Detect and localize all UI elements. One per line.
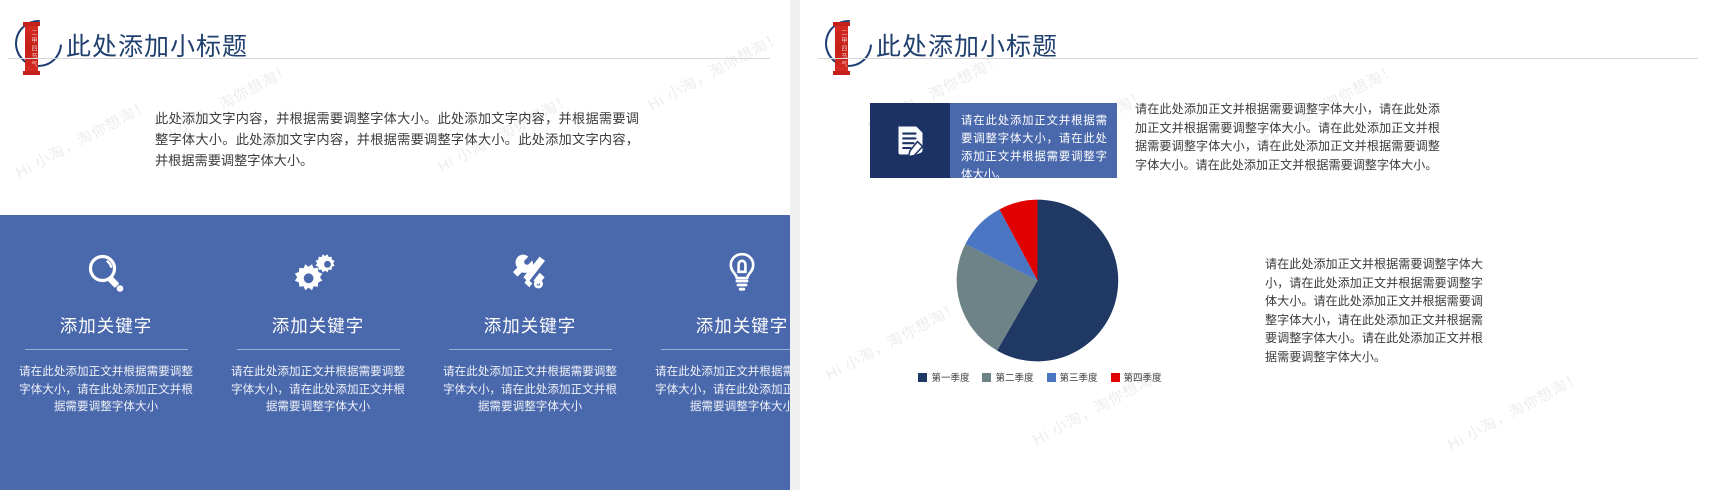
feature-body: 请在此处添加正文并根据需要调整字体大小，请在此处添加正文并根据需要调整字体大小 xyxy=(228,363,408,416)
watermark: Hi 小淘，淘你想淘！ xyxy=(12,94,154,183)
pie-chart[interactable]: 第一季度 第二季度 第三季度 第四季度 xyxy=(865,198,1215,398)
feature-column-4[interactable]: 添加关键字 请在此处添加正文并根据需要调整字体大小，请在此处添加正文并根据需要调… xyxy=(636,215,790,490)
pie-chart-svg[interactable] xyxy=(955,198,1120,363)
lightbulb-icon xyxy=(724,249,760,297)
screenshot-stage: Hi 小淘，淘你想淘！ Hi 小淘，淘你想淘！ Hi 小淘，淘你想淘！ Hi 小… xyxy=(0,0,1720,490)
legend-item[interactable]: 第一季度 xyxy=(918,370,969,384)
feature-column-1[interactable]: 添加关键字 请在此处添加正文并根据需要调整字体大小，请在此处添加正文并根据需要调… xyxy=(0,215,212,490)
slide-left: Hi 小淘，淘你想淘！ Hi 小淘，淘你想淘！ Hi 小淘，淘你想淘！ Hi 小… xyxy=(0,0,790,490)
legend-label: 第二季度 xyxy=(995,370,1033,384)
lead-paragraph: 此处添加文字内容，并根据需要调整字体大小。此处添加文字内容，并根据需要调整字体大… xyxy=(155,108,639,171)
logo-ring-icon xyxy=(815,10,881,76)
slide-separator xyxy=(790,0,800,490)
legend-item[interactable]: 第二季度 xyxy=(982,370,1033,384)
feature-panel: 添加关键字 请在此处添加正文并根据需要调整字体大小，请在此处添加正文并根据需要调… xyxy=(0,215,790,490)
page-title: 二甲四节气 此处添加小标题 xyxy=(8,14,248,76)
legend-swatch-icon xyxy=(918,373,927,382)
feature-body: 请在此处添加正文并根据需要调整字体大小，请在此处添加正文并根据需要调整字体大小 xyxy=(652,363,790,416)
logo-seal-icon: 二甲四节气 xyxy=(25,25,38,72)
feature-divider xyxy=(661,349,791,350)
logo-seal-glyphs: 二甲四节气 xyxy=(835,25,848,72)
legend-item[interactable]: 第三季度 xyxy=(1047,370,1098,384)
chart-legend: 第一季度 第二季度 第三季度 第四季度 xyxy=(865,370,1215,384)
gears-icon xyxy=(295,249,341,297)
page-title: 二甲四节气 此处添加小标题 xyxy=(818,14,1058,76)
slide-right: Hi 小淘，淘你想淘！ Hi 小淘，淘你想淘！ Hi 小淘，淘你想淘！ Hi 小… xyxy=(800,0,1720,490)
logo-seal-glyphs: 二甲四节气 xyxy=(25,25,38,72)
legend-swatch-icon xyxy=(1047,373,1056,382)
logo-seal-icon: 二甲四节气 xyxy=(835,25,848,72)
logo-ring-icon xyxy=(5,10,71,76)
title-divider xyxy=(8,58,770,59)
legend-swatch-icon xyxy=(982,373,991,382)
feature-column-3[interactable]: 添加关键字 请在此处添加正文并根据需要调整字体大小，请在此处添加正文并根据需要调… xyxy=(424,215,636,490)
feature-body: 请在此处添加正文并根据需要调整字体大小，请在此处添加正文并根据需要调整字体大小 xyxy=(16,363,196,416)
feature-title: 添加关键字 xyxy=(272,313,365,338)
pie-right-paragraph: 请在此处添加正文并根据需要调整字体大小，请在此处添加正文并根据需要调整字体大小。… xyxy=(1265,255,1483,366)
note-pencil-icon xyxy=(870,103,950,178)
brand-logo-icon: 二甲四节气 xyxy=(8,14,66,76)
feature-divider xyxy=(25,349,188,350)
feature-body: 请在此处添加正文并根据需要调整字体大小，请在此处添加正文并根据需要调整字体大小 xyxy=(440,363,620,416)
feature-title: 添加关键字 xyxy=(60,313,153,338)
brand-logo-icon: 二甲四节气 xyxy=(818,14,876,76)
info-strip-text: 请在此处添加正文并根据需要调整字体大小，请在此处添加正文并根据需要调整字体大小。 xyxy=(950,103,1117,178)
watermark: Hi 小淘，淘你想淘！ xyxy=(644,26,786,115)
wrench-screwdriver-icon xyxy=(508,249,552,297)
info-strip[interactable]: 请在此处添加正文并根据需要调整字体大小，请在此处添加正文并根据需要调整字体大小。 xyxy=(870,103,1117,178)
legend-item[interactable]: 第四季度 xyxy=(1111,370,1162,384)
legend-label: 第三季度 xyxy=(1060,370,1098,384)
feature-divider xyxy=(449,349,612,350)
title-divider xyxy=(818,58,1698,59)
magnifier-icon xyxy=(86,249,126,297)
feature-column-2[interactable]: 添加关键字 请在此处添加正文并根据需要调整字体大小，请在此处添加正文并根据需要调… xyxy=(212,215,424,490)
legend-swatch-icon xyxy=(1111,373,1120,382)
info-right-paragraph: 请在此处添加正文并根据需要调整字体大小，请在此处添加正文并根据需要调整字体大小。… xyxy=(1135,100,1440,174)
watermark: Hi 小淘，淘你想淘！ xyxy=(1444,366,1586,455)
feature-divider xyxy=(237,349,400,350)
legend-label: 第四季度 xyxy=(1124,370,1162,384)
legend-label: 第一季度 xyxy=(931,370,969,384)
feature-title: 添加关键字 xyxy=(484,313,577,338)
feature-title: 添加关键字 xyxy=(696,313,789,338)
